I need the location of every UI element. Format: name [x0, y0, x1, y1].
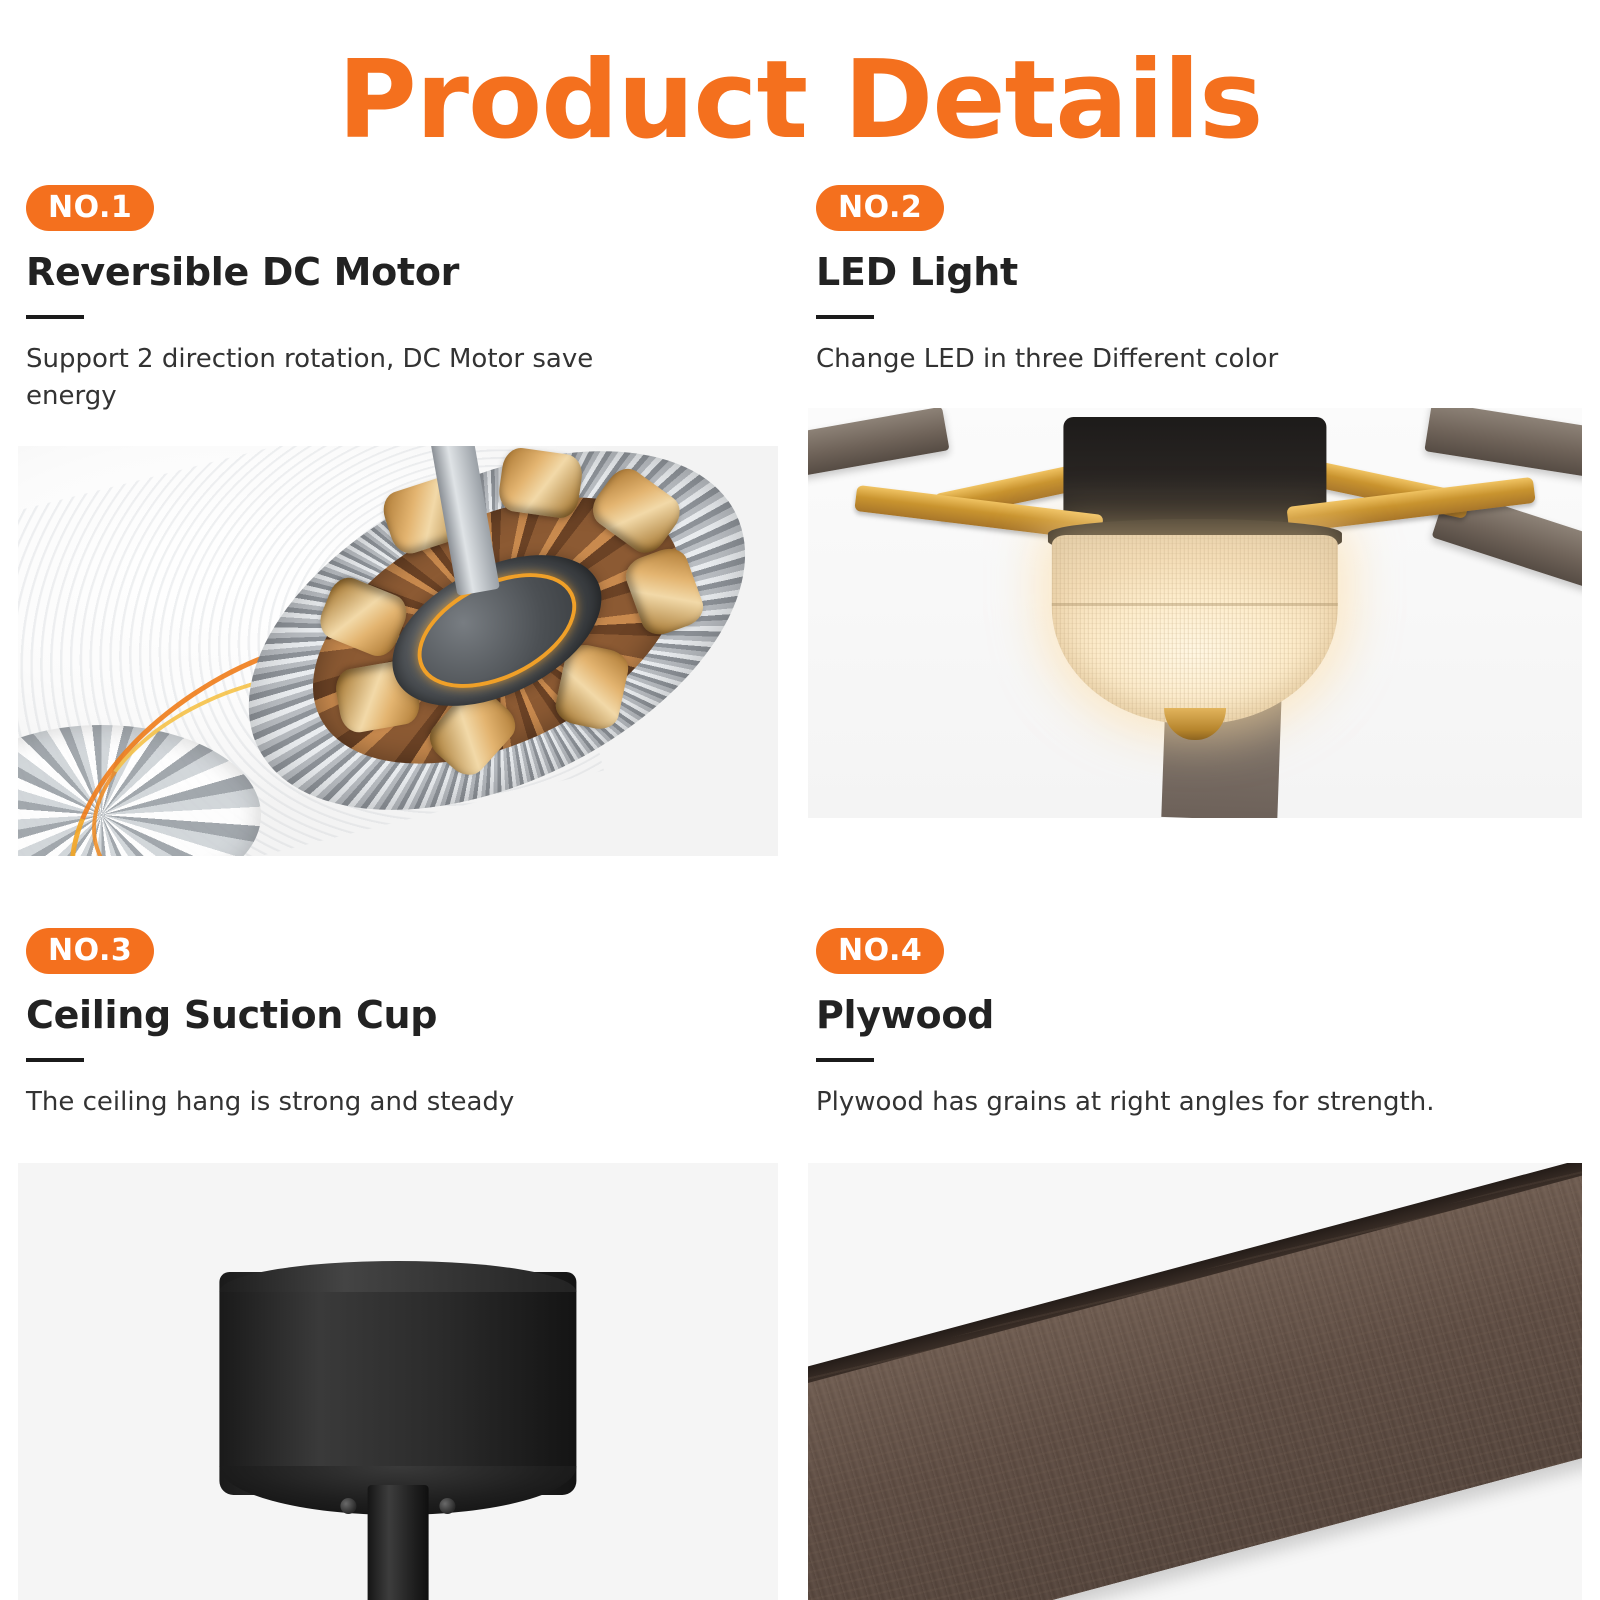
feature-block-1: NO.1 Reversible DC Motor Support 2 direc…	[0, 185, 800, 856]
feature-image-4	[808, 1163, 1582, 1600]
feature-description-2: Change LED in three Different color	[816, 341, 1456, 379]
feature-text-1: NO.1 Reversible DC Motor Support 2 direc…	[18, 185, 778, 416]
feature-image-2	[808, 408, 1582, 818]
feature-divider-2	[816, 315, 874, 319]
product-details-page: Product Details NO.1 Reversible DC Motor…	[0, 0, 1600, 1600]
features-row-1: NO.1 Reversible DC Motor Support 2 direc…	[0, 185, 1600, 856]
feature-heading-1: Reversible DC Motor	[26, 251, 778, 295]
feature-block-4: NO.4 Plywood Plywood has grains at right…	[800, 928, 1600, 1600]
fan-downrod	[368, 1485, 429, 1600]
feature-description-1: Support 2 direction rotation, DC Motor s…	[26, 341, 666, 416]
feature-text-4: NO.4 Plywood Plywood has grains at right…	[808, 928, 1582, 1121]
feature-divider-4	[816, 1058, 874, 1062]
feature-divider-1	[26, 315, 84, 319]
feature-image-1	[18, 446, 778, 856]
canopy-screw	[439, 1498, 455, 1514]
canopy-screw	[341, 1498, 357, 1514]
feature-description-4: Plywood has grains at right angles for s…	[816, 1084, 1456, 1122]
fan-motor-housing	[1063, 417, 1326, 524]
led-dome-rim	[1052, 603, 1338, 606]
feature-text-3: NO.3 Ceiling Suction Cup The ceiling han…	[18, 928, 778, 1121]
feature-description-3: The ceiling hang is strong and steady	[26, 1084, 666, 1122]
feature-badge-1: NO.1	[26, 185, 154, 231]
page-title: Product Details	[0, 42, 1600, 161]
feature-block-2: NO.2 LED Light Change LED in three Diffe…	[800, 185, 1600, 856]
feature-badge-4: NO.4	[816, 928, 944, 974]
feature-image-3	[18, 1163, 778, 1600]
feature-badge-2: NO.2	[816, 185, 944, 231]
feature-block-3: NO.3 Ceiling Suction Cup The ceiling han…	[0, 928, 800, 1600]
feature-divider-3	[26, 1058, 84, 1062]
ceiling-canopy-body	[219, 1272, 576, 1495]
features-grid: NO.1 Reversible DC Motor Support 2 direc…	[0, 185, 1600, 1600]
feature-heading-3: Ceiling Suction Cup	[26, 994, 778, 1038]
feature-text-2: NO.2 LED Light Change LED in three Diffe…	[808, 185, 1582, 378]
motor-coil	[496, 446, 584, 520]
feature-heading-2: LED Light	[816, 251, 1582, 295]
feature-heading-4: Plywood	[816, 994, 1582, 1038]
feature-badge-3: NO.3	[26, 928, 154, 974]
features-row-2: NO.3 Ceiling Suction Cup The ceiling han…	[0, 928, 1600, 1600]
